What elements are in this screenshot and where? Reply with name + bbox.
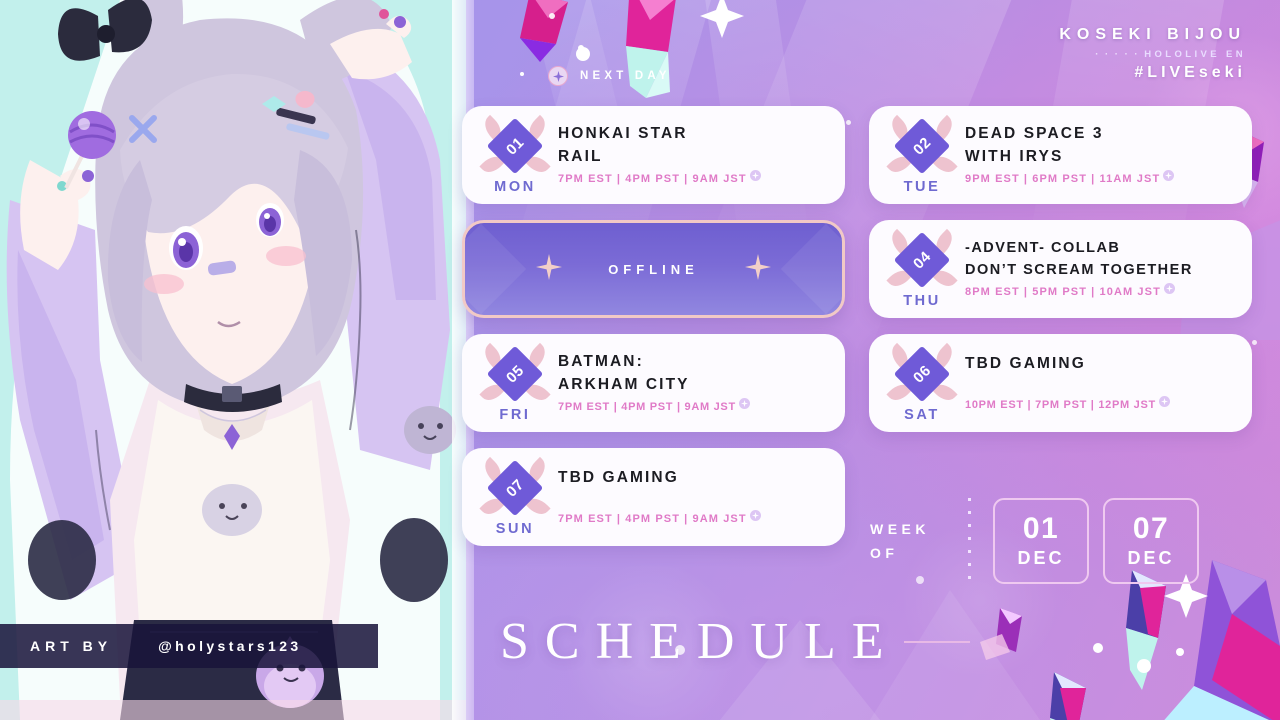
stream-times-text: 7PM EST | 4PM PST | 9AM JST xyxy=(558,401,736,413)
brand-header: KOSEKI BIJOU · · · · · HOLOLIVE EN #LIVE… xyxy=(1059,26,1246,82)
schedule-title-block: SCHEDULE xyxy=(500,612,970,671)
stream-times: 10PM EST | 7PM PST | 12PM JST xyxy=(965,399,1170,411)
stream-title-line1: TBD GAMING xyxy=(965,353,1240,375)
dot-separator: · · · · · xyxy=(1095,49,1144,60)
card-content: BATMAN: ARKHAM CITY 7PM EST | 4PM PST | … xyxy=(554,351,833,415)
day-number: 07 xyxy=(471,444,559,532)
date-box-start: 01 DEC xyxy=(993,498,1089,584)
page-title: SCHEDULE xyxy=(500,612,900,671)
day-number-badge: 04 xyxy=(891,229,953,291)
card-day-block: 01 MON xyxy=(476,115,554,195)
sparkle-dot xyxy=(1252,340,1257,345)
stream-times-text: 7PM EST | 4PM PST | 9AM JST xyxy=(558,513,747,525)
day-number-badge: 02 xyxy=(891,115,953,177)
stream-title-line2: RAIL xyxy=(558,146,833,168)
character-artwork xyxy=(0,0,466,720)
channel-name: KOSEKI BIJOU xyxy=(1059,26,1246,44)
sparkle-icon xyxy=(750,510,761,521)
sparkle-dot xyxy=(578,45,584,51)
day-number-badge: 07 xyxy=(484,457,546,519)
sparkle-icon xyxy=(1163,170,1174,181)
stream-times: 8PM EST | 5PM PST | 10AM JST xyxy=(965,286,1175,298)
schedule-row: 01 MON HONKAI STAR RAIL 7PM EST | 4PM PS… xyxy=(462,106,1252,204)
schedule-graphic: KOSEKI BIJOU · · · · · HOLOLIVE EN #LIVE… xyxy=(0,0,1280,720)
stream-title-line1: HONKAI STAR xyxy=(558,123,833,145)
card-content: HONKAI STAR RAIL 7PM EST | 4PM PST | 9AM… xyxy=(554,123,833,187)
art-credit-handle: @holystars123 xyxy=(158,638,301,654)
stream-times: 7PM EST | 4PM PST | 9AM JST xyxy=(558,401,750,413)
card-content: -ADVENT- COLLAB DON’T SCREAM TOGETHER 8P… xyxy=(961,238,1240,299)
day-number: 05 xyxy=(471,330,559,418)
stream-title-line1: TBD GAMING xyxy=(558,467,833,489)
schedule-row: OFFLINE 04 THU xyxy=(462,220,1252,318)
stream-title-line2: ARKHAM CITY xyxy=(558,374,833,396)
start-day: 01 xyxy=(1023,514,1059,544)
week-of-line1: WEEK xyxy=(870,517,962,542)
dotted-divider xyxy=(968,498,971,584)
day-number: 04 xyxy=(878,216,966,304)
sparkle-icon xyxy=(750,170,761,181)
schedule-card-fri[interactable]: 05 FRI BATMAN: ARKHAM CITY 7PM EST | 4PM… xyxy=(462,334,845,432)
date-box-end: 07 DEC xyxy=(1103,498,1199,584)
stream-times-text: 10PM EST | 7PM PST | 12PM JST xyxy=(965,399,1156,411)
schedule-row: 05 FRI BATMAN: ARKHAM CITY 7PM EST | 4PM… xyxy=(462,334,1252,432)
title-rule xyxy=(904,641,970,643)
hashtag: #LIVEseki xyxy=(1059,64,1246,82)
affiliation-label: HOLOLIVE EN xyxy=(1144,49,1246,60)
next-day-indicator: NEXT DAY xyxy=(548,66,671,86)
schedule-card-sun[interactable]: 07 SUN TBD GAMING 7PM EST | 4PM PST | 9A… xyxy=(462,448,845,546)
schedule-card-tue[interactable]: 02 TUE DEAD SPACE 3 WITH IRYS 9PM EST | … xyxy=(869,106,1252,204)
card-content: TBD GAMING 7PM EST | 4PM PST | 9AM JST xyxy=(554,467,833,526)
start-month: DEC xyxy=(1017,548,1064,569)
card-day-block: 04 THU xyxy=(883,229,961,309)
week-of-block: WEEK OF 01 DEC 07 DEC xyxy=(870,498,1213,584)
stream-times: 7PM EST | 4PM PST | 9AM JST xyxy=(558,173,761,185)
stream-title-line2: WITH IRYS xyxy=(965,146,1240,168)
day-number: 02 xyxy=(878,102,966,190)
card-content: TBD GAMING 10PM EST | 7PM PST | 12PM JST xyxy=(961,353,1240,412)
stream-times: 7PM EST | 4PM PST | 9AM JST xyxy=(558,513,761,525)
sparkle-dot xyxy=(520,72,524,76)
schedule-card-thu[interactable]: 04 THU -ADVENT- COLLAB DON’T SCREAM TOGE… xyxy=(869,220,1252,318)
stream-times: 9PM EST | 6PM PST | 11AM JST xyxy=(965,173,1174,185)
sparkle-icon xyxy=(739,398,750,409)
stream-title-line2: DON’T SCREAM TOGETHER xyxy=(965,260,1240,281)
stream-times-text: 7PM EST | 4PM PST | 9AM JST xyxy=(558,173,747,185)
four-point-star-icon xyxy=(745,254,771,285)
offline-card[interactable]: OFFLINE xyxy=(462,220,845,318)
day-number-badge: 01 xyxy=(484,115,546,177)
sparkle-icon xyxy=(1159,396,1170,407)
card-day-block: 06 SAT xyxy=(883,343,961,423)
offline-label: OFFLINE xyxy=(608,262,699,277)
card-content: DEAD SPACE 3 WITH IRYS 9PM EST | 6PM PST… xyxy=(961,123,1240,187)
day-number: 01 xyxy=(471,102,559,190)
sparkle-icon xyxy=(548,66,568,86)
card-day-block: 02 TUE xyxy=(883,115,961,195)
week-of-label: WEEK OF xyxy=(870,517,962,566)
stream-title-line1: BATMAN: xyxy=(558,351,833,373)
sparkle-icon xyxy=(1164,283,1175,294)
card-day-block: 05 FRI xyxy=(476,343,554,423)
next-day-label: NEXT DAY xyxy=(580,70,671,82)
art-credit-label: ART BY xyxy=(30,638,112,654)
four-point-star-icon xyxy=(536,254,562,285)
stream-title-line1: -ADVENT- COLLAB xyxy=(965,238,1240,259)
art-credit-bar: ART BY @holystars123 xyxy=(0,624,378,668)
day-number-badge: 05 xyxy=(484,343,546,405)
day-number: 06 xyxy=(878,330,966,418)
affiliation-line: · · · · · HOLOLIVE EN xyxy=(1059,49,1246,60)
card-day-block: 07 SUN xyxy=(476,457,554,537)
schedule-card-mon[interactable]: 01 MON HONKAI STAR RAIL 7PM EST | 4PM PS… xyxy=(462,106,845,204)
schedule-grid: 01 MON HONKAI STAR RAIL 7PM EST | 4PM PS… xyxy=(462,106,1252,562)
schedule-card-sat[interactable]: 06 SAT TBD GAMING 10PM EST | 7PM PST | 1… xyxy=(869,334,1252,432)
stream-times-text: 8PM EST | 5PM PST | 10AM JST xyxy=(965,286,1161,298)
end-month: DEC xyxy=(1127,548,1174,569)
stream-times-text: 9PM EST | 6PM PST | 11AM JST xyxy=(965,173,1160,185)
stream-title-line1: DEAD SPACE 3 xyxy=(965,123,1240,145)
week-of-line2: OF xyxy=(870,541,962,566)
end-day: 07 xyxy=(1133,514,1169,544)
day-number-badge: 06 xyxy=(891,343,953,405)
